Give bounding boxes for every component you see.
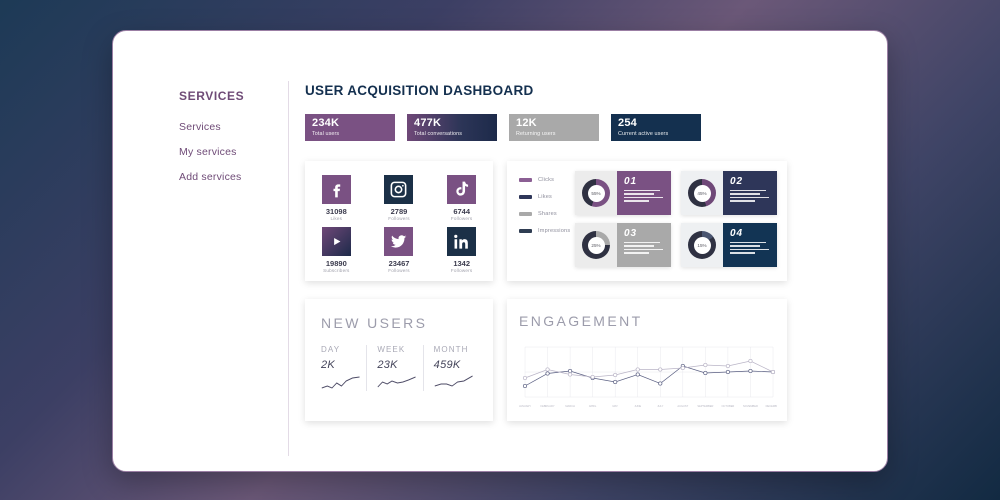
svg-text:OCTOBER: OCTOBER	[722, 404, 735, 408]
engagement-chart: JANUARYFEBRUARYMARCHAPRILMAYJUNEJULYAUGU…	[519, 343, 777, 415]
donut-chart-04: 15%	[688, 231, 716, 259]
social-value: 19890	[305, 259, 368, 268]
sparkline-month	[434, 375, 473, 391]
engagement-title: ENGAGEMENT	[519, 313, 777, 329]
donut-chart-01: 55%	[582, 179, 610, 207]
main-content: USER ACQUISITION DASHBOARD 234K Total us…	[305, 83, 805, 439]
sidebar-item-add-services[interactable]: Add services	[179, 171, 289, 183]
svg-text:JUNE: JUNE	[634, 404, 641, 408]
card-body: 04	[723, 223, 777, 267]
social-grid: 31098 Likes 2789 Followers	[305, 175, 493, 273]
svg-text:AUGUST: AUGUST	[677, 404, 688, 408]
kpi-row: 234K Total users 477K Total conversation…	[305, 114, 805, 141]
kpi-value: 254	[618, 118, 694, 129]
social-value: 1342	[430, 259, 493, 268]
donut-percent: 45%	[688, 179, 716, 207]
kpi-card-total-conversations[interactable]: 477K Total conversations	[407, 114, 497, 141]
social-item-twitter[interactable]: 23467 Followers	[368, 227, 431, 273]
metric-value: 2K	[321, 359, 360, 371]
placeholder-lines	[624, 190, 665, 202]
metric-label: WEEK	[377, 345, 416, 354]
sidebar-divider	[288, 81, 289, 456]
youtube-icon	[322, 227, 351, 256]
metric-month: MONTH 459K	[423, 345, 479, 391]
middle-row: 31098 Likes 2789 Followers	[305, 161, 805, 281]
legend-swatch	[519, 195, 532, 199]
social-value: 31098	[305, 207, 368, 216]
linkedin-icon	[447, 227, 476, 256]
donut-percent: 55%	[582, 179, 610, 207]
svg-text:MARCH: MARCH	[565, 404, 575, 408]
metric-label: DAY	[321, 345, 360, 354]
legend-label: Clicks	[538, 177, 554, 183]
social-stats-panel: 31098 Likes 2789 Followers	[305, 161, 493, 281]
kpi-value: 477K	[414, 118, 490, 129]
donut-container: 25%	[575, 223, 617, 267]
svg-text:APRIL: APRIL	[589, 404, 597, 408]
kpi-card-total-users[interactable]: 234K Total users	[305, 114, 395, 141]
donut-chart-03: 25%	[582, 231, 610, 259]
placeholder-lines	[730, 190, 771, 202]
social-value: 2789	[368, 207, 431, 216]
kpi-card-current-active-users[interactable]: 254 Current active users	[611, 114, 701, 141]
social-value: 6744	[430, 207, 493, 216]
donut-container: 45%	[681, 171, 723, 215]
performance-card-02[interactable]: 45% 02	[681, 171, 777, 215]
dashboard-window: SERVICES Services My services Add servic…	[112, 30, 888, 472]
social-label: Subscribers	[305, 268, 368, 273]
social-label: Followers	[368, 268, 431, 273]
instagram-icon	[384, 175, 413, 204]
kpi-label: Returning users	[516, 131, 592, 137]
svg-text:JANUARY: JANUARY	[519, 404, 531, 408]
metric-value: 23K	[377, 359, 416, 371]
facebook-icon	[322, 175, 351, 204]
card-number: 01	[624, 176, 665, 187]
legend-item-likes: Likes	[519, 194, 575, 200]
kpi-label: Current active users	[618, 131, 694, 137]
performance-card-01[interactable]: 55% 01	[575, 171, 671, 215]
social-item-facebook[interactable]: 31098 Likes	[305, 175, 368, 221]
kpi-card-returning-users[interactable]: 12K Returning users	[509, 114, 599, 141]
sidebar-item-my-services[interactable]: My services	[179, 146, 289, 158]
card-number: 04	[730, 228, 771, 239]
svg-text:NOVEMBER: NOVEMBER	[743, 404, 758, 408]
kpi-label: Total users	[312, 131, 388, 137]
sidebar-item-services[interactable]: Services	[179, 121, 289, 133]
metric-label: MONTH	[434, 345, 473, 354]
legend-swatch	[519, 178, 532, 182]
sidebar-title: SERVICES	[179, 89, 289, 103]
placeholder-lines	[730, 242, 771, 254]
sparkline-day	[321, 375, 360, 391]
twitter-icon	[384, 227, 413, 256]
svg-text:DECEMBER: DECEMBER	[766, 404, 777, 408]
performance-card-03[interactable]: 25% 03	[575, 223, 671, 267]
social-item-instagram[interactable]: 2789 Followers	[368, 175, 431, 221]
metric-week: WEEK 23K	[366, 345, 422, 391]
page-title: USER ACQUISITION DASHBOARD	[305, 83, 805, 98]
performance-cards: 55% 01	[575, 171, 777, 281]
placeholder-lines	[624, 242, 665, 254]
social-item-youtube[interactable]: 19890 Subscribers	[305, 227, 368, 273]
social-value: 23467	[368, 259, 431, 268]
card-body: 03	[617, 223, 671, 267]
donut-container: 15%	[681, 223, 723, 267]
new-users-metrics: DAY 2K WEEK 23K	[321, 345, 479, 391]
legend-item-shares: Shares	[519, 211, 575, 217]
kpi-label: Total conversations	[414, 131, 490, 137]
card-body: 02	[723, 171, 777, 215]
donut-percent: 15%	[688, 231, 716, 259]
social-label: Followers	[368, 216, 431, 221]
card-body: 01	[617, 171, 671, 215]
social-label: Followers	[430, 268, 493, 273]
sidebar: SERVICES Services My services Add servic…	[179, 89, 289, 196]
svg-text:SEPTEMBER: SEPTEMBER	[697, 404, 713, 408]
new-users-title: NEW USERS	[321, 315, 479, 331]
performance-card-04[interactable]: 15% 04	[681, 223, 777, 267]
bottom-row: NEW USERS DAY 2K WEEK	[305, 299, 805, 421]
legend-swatch	[519, 229, 532, 233]
performance-panel: Clicks Likes Shares Impressions	[507, 161, 787, 281]
kpi-value: 12K	[516, 118, 592, 129]
social-item-linkedin[interactable]: 1342 Followers	[430, 227, 493, 273]
card-number: 03	[624, 228, 665, 239]
legend-label: Likes	[538, 194, 552, 200]
donut-percent: 25%	[582, 231, 610, 259]
social-item-tiktok[interactable]: 6744 Followers	[430, 175, 493, 221]
metric-day: DAY 2K	[321, 345, 366, 391]
tiktok-icon	[447, 175, 476, 204]
legend: Clicks Likes Shares Impressions	[519, 171, 575, 281]
social-label: Followers	[430, 216, 493, 221]
screen: SERVICES Services My services Add servic…	[0, 0, 1000, 500]
donut-chart-02: 45%	[688, 179, 716, 207]
svg-text:JULY: JULY	[657, 404, 663, 408]
kpi-value: 234K	[312, 118, 388, 129]
legend-label: Impressions	[538, 228, 570, 234]
legend-item-impressions: Impressions	[519, 228, 575, 234]
card-number: 02	[730, 176, 771, 187]
legend-label: Shares	[538, 211, 557, 217]
legend-swatch	[519, 212, 532, 216]
engagement-panel: ENGAGEMENT JANUARYFEBRUARYMARCHAPRILMAYJ…	[507, 299, 787, 421]
svg-text:FEBRUARY: FEBRUARY	[541, 404, 555, 408]
donut-container: 55%	[575, 171, 617, 215]
metric-value: 459K	[434, 359, 473, 371]
svg-text:MAY: MAY	[612, 404, 618, 408]
sparkline-week	[377, 375, 416, 391]
new-users-panel: NEW USERS DAY 2K WEEK	[305, 299, 493, 421]
legend-item-clicks: Clicks	[519, 177, 575, 183]
social-label: Likes	[305, 216, 368, 221]
